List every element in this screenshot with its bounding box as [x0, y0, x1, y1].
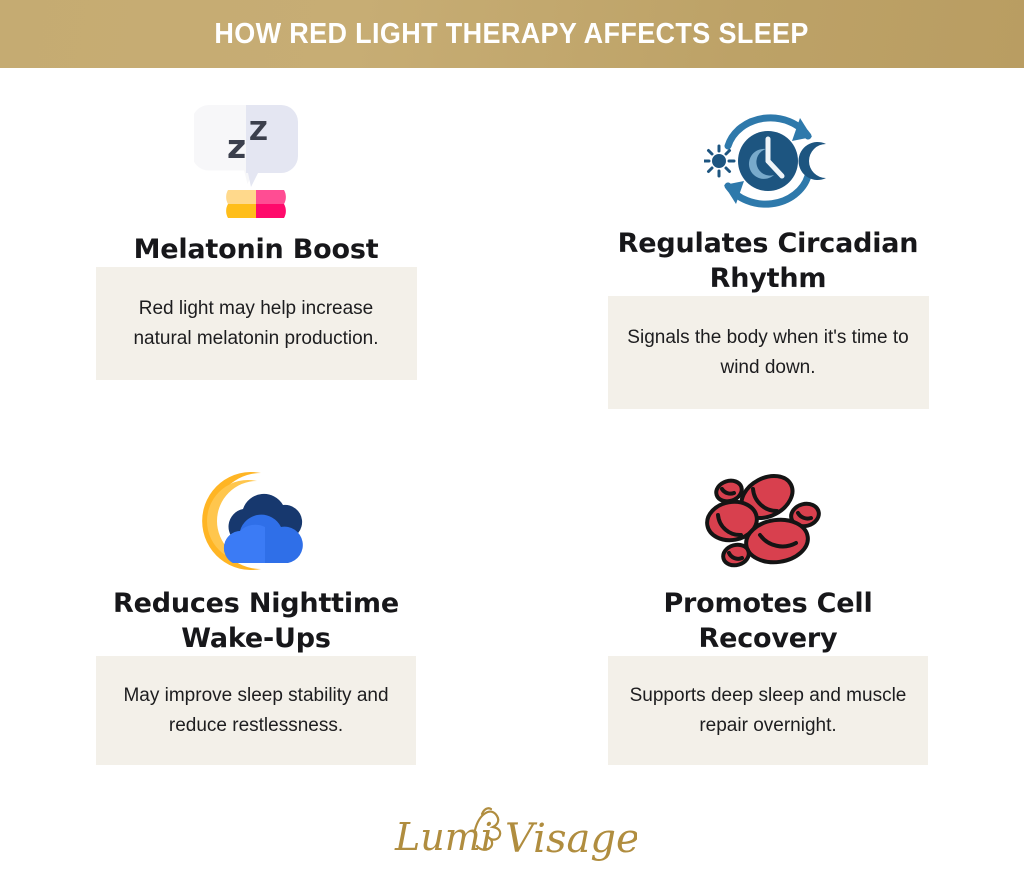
card-body: Supports deep sleep and muscle repair ov…: [608, 656, 928, 765]
card-title: Regulates Circadian Rhythm: [603, 226, 933, 296]
svg-text:Lumi: Lumi: [394, 815, 493, 859]
card-body: Signals the body when it's time to wind …: [608, 296, 929, 409]
card-title: Melatonin Boost: [134, 232, 379, 267]
svg-text:z: z: [227, 127, 246, 166]
svg-text:Z: Z: [249, 117, 268, 147]
card-circadian-rhythm: Regulates Circadian Rhythm Signals the b…: [512, 98, 1024, 409]
blood-cells-icon: [512, 458, 1024, 584]
card-title: Promotes Cell Recovery: [603, 586, 933, 656]
svg-text:Visage: Visage: [505, 816, 637, 862]
card-body: May improve sleep stability and reduce r…: [96, 656, 416, 765]
card-cell-recovery: Promotes Cell Recovery Supports deep sle…: [512, 458, 1024, 765]
circadian-clock-icon: [512, 98, 1024, 224]
lumi-visage-wordmark: Lumi Visage: [387, 794, 637, 874]
brand-logo: Lumi Visage Lumi Visage: [0, 790, 1024, 878]
moon-cloud-icon: [0, 458, 512, 584]
sleep-pill-icon: z Z: [0, 98, 512, 224]
card-melatonin-boost: z Z Melatonin Boost Red light may help i…: [0, 98, 512, 380]
page-header: HOW RED LIGHT THERAPY AFFECTS SLEEP: [0, 0, 1024, 68]
card-title: Reduces Nighttime Wake-Ups: [91, 586, 421, 656]
card-reduces-wakeups: Reduces Nighttime Wake-Ups May improve s…: [0, 458, 512, 765]
page-title: HOW RED LIGHT THERAPY AFFECTS SLEEP: [215, 18, 809, 51]
card-body: Red light may help increase natural mela…: [96, 267, 417, 380]
benefits-grid: z Z Melatonin Boost Red light may help i…: [0, 68, 1024, 788]
